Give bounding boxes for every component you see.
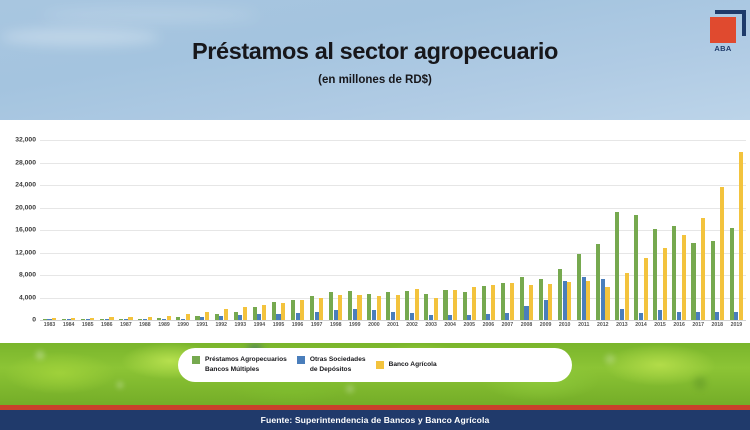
x-axis-tick-label: 1990 (174, 322, 193, 328)
x-axis-tick-label: 1988 (135, 322, 154, 328)
legend-item: Banco Agrícola (376, 360, 437, 370)
bar (730, 228, 734, 320)
bar-group (250, 140, 269, 320)
bar (491, 285, 495, 320)
x-axis-tick-label: 2019 (727, 322, 746, 328)
bar (486, 314, 490, 320)
bar (181, 319, 185, 320)
header-banner: Préstamos al sector agropecuario (en mil… (0, 0, 750, 120)
bar (715, 312, 719, 320)
bar (276, 314, 280, 320)
bar (52, 318, 56, 320)
bar-group (651, 140, 670, 320)
x-axis-tick-label: 1995 (269, 322, 288, 328)
bar (367, 294, 371, 320)
logo-bar-right-icon (742, 10, 746, 36)
bar (234, 312, 238, 320)
legend-label: Otras Sociedades de Depósitos (310, 355, 366, 375)
x-axis-tick-label: 2017 (689, 322, 708, 328)
bar (334, 310, 338, 320)
bar-group (727, 140, 746, 320)
bar (86, 319, 90, 320)
legend-swatch-icon (297, 356, 305, 364)
bar (448, 315, 452, 320)
y-axis-tick-label: 8,000 (0, 272, 36, 279)
bar (386, 292, 390, 320)
bars-container (40, 140, 746, 320)
bar (663, 248, 667, 320)
bar (148, 317, 152, 320)
bar (691, 243, 695, 320)
bar (281, 303, 285, 320)
bar (348, 291, 352, 320)
bar (472, 287, 476, 320)
x-axis-tick-label: 1999 (345, 322, 364, 328)
bar (601, 279, 605, 320)
bar-group (212, 140, 231, 320)
bar-group (97, 140, 116, 320)
bar-group (40, 140, 59, 320)
bar (701, 218, 705, 320)
bar (429, 315, 433, 320)
x-axis-tick-label: 1998 (326, 322, 345, 328)
x-axis-tick-label: 2000 (364, 322, 383, 328)
bar (434, 298, 438, 321)
bar (253, 307, 257, 320)
aba-logo: ABA (699, 8, 747, 56)
y-axis-tick-label: 20,000 (0, 204, 36, 211)
bar (262, 305, 266, 320)
bar (119, 319, 123, 320)
bar (524, 306, 528, 320)
bar (296, 313, 300, 320)
x-axis-tick-label: 2002 (402, 322, 421, 328)
bar (586, 281, 590, 320)
bar (310, 296, 314, 320)
bar (215, 314, 219, 320)
bar-group (288, 140, 307, 320)
chart-panel: 04,0008,00012,00016,00020,00024,00028,00… (0, 120, 750, 343)
source-attribution: Fuente: Superintendencia de Bancos y Ban… (261, 415, 490, 425)
bar (529, 285, 533, 320)
bar-group (422, 140, 441, 320)
y-axis-tick-label: 24,000 (0, 182, 36, 189)
bar (100, 319, 104, 320)
bar (291, 300, 295, 320)
title-block: Préstamos al sector agropecuario (en mil… (0, 0, 750, 86)
bar (520, 277, 524, 320)
x-axis-tick-label: 1984 (59, 322, 78, 328)
bar (615, 212, 619, 320)
bar (243, 307, 247, 321)
bar-group (135, 140, 154, 320)
bar-group (307, 140, 326, 320)
bar (605, 287, 609, 320)
x-axis-tick-label: 1994 (250, 322, 269, 328)
bar (43, 319, 47, 320)
x-axis-tick-label: 2004 (441, 322, 460, 328)
x-axis-tick-label: 2012 (593, 322, 612, 328)
bar (625, 273, 629, 320)
bar (329, 292, 333, 320)
bar-group (536, 140, 555, 320)
bar (672, 226, 676, 321)
bar-group (59, 140, 78, 320)
y-axis-tick-label: 28,000 (0, 159, 36, 166)
bar-group (402, 140, 421, 320)
x-axis-tick-label: 1997 (307, 322, 326, 328)
legend-swatch-icon (192, 356, 200, 364)
bar (453, 290, 457, 320)
bar-group (479, 140, 498, 320)
bar (71, 318, 75, 320)
x-axis-tick-label: 1989 (154, 322, 173, 328)
bar-group (78, 140, 97, 320)
bar (539, 279, 543, 320)
bar (81, 319, 85, 320)
bar (711, 241, 715, 320)
bar (238, 315, 242, 320)
bar (315, 312, 319, 320)
bar (620, 309, 624, 320)
bar (372, 310, 376, 320)
bar (338, 295, 342, 320)
y-axis-tick-label: 4,000 (0, 294, 36, 301)
bar-group (269, 140, 288, 320)
x-axis-tick-label: 1992 (212, 322, 231, 328)
bar (219, 316, 223, 320)
bar (257, 314, 261, 320)
bar (195, 316, 199, 320)
bar-group (631, 140, 650, 320)
bar (410, 313, 414, 320)
bar (90, 318, 94, 320)
bar-group (593, 140, 612, 320)
x-axis-tick-label: 2005 (460, 322, 479, 328)
x-axis-tick-label: 2008 (517, 322, 536, 328)
page-subtitle: (en millones de RD$) (0, 74, 750, 86)
x-axis-tick-label: 2018 (708, 322, 727, 328)
bar-group (174, 140, 193, 320)
bar-group (383, 140, 402, 320)
y-axis-tick-label: 16,000 (0, 227, 36, 234)
bar (658, 310, 662, 320)
bar (124, 319, 128, 320)
bar (677, 312, 681, 320)
bar (353, 309, 357, 320)
bar-group (708, 140, 727, 320)
x-axis: 1983198419851986198719881989199019911992… (40, 322, 746, 328)
bar (205, 312, 209, 320)
page-title: Préstamos al sector agropecuario (0, 38, 750, 65)
bar-group (517, 140, 536, 320)
x-axis-tick-label: 1986 (97, 322, 116, 328)
bar (47, 319, 51, 320)
bar (396, 295, 400, 320)
footer-bar: Fuente: Superintendencia de Bancos y Ban… (0, 410, 750, 430)
bar-group (193, 140, 212, 320)
bar (138, 319, 142, 320)
bar (582, 277, 586, 320)
x-axis-tick-label: 2014 (631, 322, 650, 328)
bar (62, 319, 66, 320)
bar (544, 300, 548, 320)
bar (501, 283, 505, 320)
x-axis-tick-label: 2007 (498, 322, 517, 328)
bar-group (574, 140, 593, 320)
bar (577, 254, 581, 320)
bar-group (460, 140, 479, 320)
bar (109, 317, 113, 320)
bar-group (670, 140, 689, 320)
bar (162, 319, 166, 320)
bar (67, 319, 71, 320)
bar (739, 152, 743, 320)
y-axis-tick-label: 0 (0, 317, 36, 324)
legend-label: Préstamos Agropecuarios Bancos Múltiples (205, 355, 287, 375)
x-axis-tick-label: 1991 (193, 322, 212, 328)
bar (128, 317, 132, 320)
bar (300, 300, 304, 320)
legend-item: Préstamos Agropecuarios Bancos Múltiples (192, 355, 287, 375)
bar (634, 215, 638, 320)
bar (105, 319, 109, 320)
x-axis-tick-label: 2001 (383, 322, 402, 328)
bar (548, 284, 552, 320)
legend-swatch-icon (376, 361, 384, 369)
plot-area: 04,0008,00012,00016,00020,00024,00028,00… (0, 120, 750, 343)
bar-group (231, 140, 250, 320)
bar-group (116, 140, 135, 320)
bar (696, 312, 700, 320)
x-axis-tick-label: 2006 (479, 322, 498, 328)
bar (563, 281, 567, 320)
bar-group (498, 140, 517, 320)
bar (200, 317, 204, 320)
bar (567, 282, 571, 320)
x-axis-tick-label: 2011 (574, 322, 593, 328)
x-axis-tick-label: 2009 (536, 322, 555, 328)
bar (157, 318, 161, 320)
bar (463, 292, 467, 320)
logo-text: ABA (708, 44, 738, 53)
logo-square-icon (710, 17, 736, 43)
bar-group (345, 140, 364, 320)
y-axis-tick-label: 32,000 (0, 137, 36, 144)
bar-group (364, 140, 383, 320)
bar (596, 244, 600, 320)
bar (653, 229, 657, 320)
bar (357, 295, 361, 320)
bar (505, 313, 509, 320)
bar-group (689, 140, 708, 320)
bar (720, 187, 724, 320)
bar (467, 315, 471, 320)
bar (143, 319, 147, 320)
gridline (40, 320, 746, 321)
bar-group (154, 140, 173, 320)
legend-label: Banco Agrícola (389, 360, 437, 370)
bar (272, 302, 276, 320)
x-axis-tick-label: 1985 (78, 322, 97, 328)
bar (644, 258, 648, 320)
bar (482, 286, 486, 320)
bar (319, 298, 323, 321)
bar (639, 313, 643, 320)
bar (405, 291, 409, 320)
bar (224, 309, 228, 320)
bar (415, 289, 419, 320)
bar (424, 294, 428, 320)
x-axis-tick-label: 1987 (116, 322, 135, 328)
y-axis-tick-label: 12,000 (0, 249, 36, 256)
x-axis-tick-label: 2003 (422, 322, 441, 328)
x-axis-tick-label: 2013 (612, 322, 631, 328)
bar (682, 235, 686, 321)
bar (558, 269, 562, 320)
bar-group (612, 140, 631, 320)
bar-group (326, 140, 345, 320)
bar-group (441, 140, 460, 320)
bar (377, 296, 381, 320)
x-axis-tick-label: 1996 (288, 322, 307, 328)
bar (186, 314, 190, 320)
chart-legend: Préstamos Agropecuarios Bancos Múltiples… (178, 348, 572, 382)
bar (167, 316, 171, 321)
x-axis-tick-label: 2010 (555, 322, 574, 328)
bar (510, 283, 514, 320)
x-axis-tick-label: 1983 (40, 322, 59, 328)
x-axis-tick-label: 1993 (231, 322, 250, 328)
bar (176, 317, 180, 320)
bar (391, 312, 395, 320)
bar-group (555, 140, 574, 320)
legend-item: Otras Sociedades de Depósitos (297, 355, 366, 375)
bar (443, 290, 447, 320)
x-axis-tick-label: 2016 (670, 322, 689, 328)
x-axis-tick-label: 2015 (651, 322, 670, 328)
bar (734, 312, 738, 320)
